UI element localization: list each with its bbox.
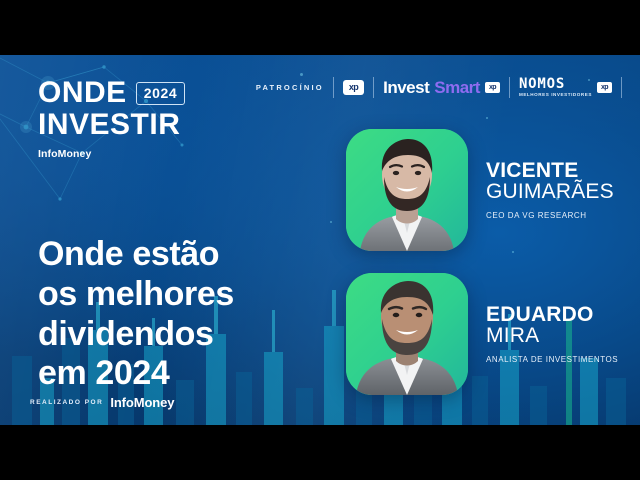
infomoney-brand-logo: InfoMoney	[38, 148, 185, 160]
speaker-photo-vicente	[346, 129, 468, 251]
nomos-xp-mark: xp	[597, 82, 612, 93]
speaker-last-name: MIRA	[486, 325, 618, 348]
sponsor-divider	[621, 77, 622, 98]
investsmart-smart-text: Smart	[434, 78, 480, 98]
realized-by-label: REALIZADO POR	[30, 399, 103, 406]
page-title: Onde estão os melhores dividendos em 202…	[38, 235, 234, 394]
sponsor-logo-nomos: NOMOS Melhores Investidores xp	[519, 77, 612, 98]
realized-by-brand: InfoMoney	[110, 395, 174, 410]
sponsor-logo-investsmart: InvestSmart xp	[383, 78, 500, 98]
speaker-last-name: GUIMARÃES	[486, 181, 614, 204]
sponsor-logo-xp: xp	[343, 80, 364, 95]
nomos-title: NOMOS	[519, 77, 565, 91]
sponsor-divider	[333, 77, 334, 98]
speaker-first-name: EDUARDO	[486, 304, 618, 325]
investsmart-invest-text: Invest	[383, 78, 429, 98]
speaker-first-name: VICENTE	[486, 160, 614, 181]
speaker-card-vicente: VICENTE GUIMARÃES CEO DA VG RESEARCH	[346, 129, 614, 251]
event-logo: ONDE 2024 INVESTIR InfoMoney	[38, 79, 185, 160]
headline-line-3: dividendos	[38, 315, 234, 355]
event-year-badge: 2024	[136, 82, 186, 105]
speaker-photo-eduardo	[346, 273, 468, 395]
portrait-illustration	[346, 129, 468, 251]
speaker-card-eduardo: EDUARDO MIRA ANALISTA DE INVESTIMENTOS	[346, 273, 618, 395]
slide-stage: ONDE 2024 INVESTIR InfoMoney Onde estão …	[0, 55, 640, 425]
xp-logo-mark: xp	[349, 83, 358, 92]
xp-logo-mark: xp	[601, 84, 608, 91]
headline-line-2: os melhores	[38, 275, 234, 315]
event-logo-line1: ONDE	[38, 79, 127, 108]
sponsor-divider	[509, 77, 510, 98]
event-logo-line2: INVESTIR	[38, 111, 185, 140]
investsmart-xp-mark: xp	[485, 82, 500, 93]
speck	[330, 221, 332, 223]
xp-logo-mark: xp	[489, 84, 496, 91]
realized-by-credit: REALIZADO POR InfoMoney	[30, 395, 174, 410]
video-frame: ONDE 2024 INVESTIR InfoMoney Onde estão …	[0, 0, 640, 480]
sponsor-divider	[373, 77, 374, 98]
sponsor-label: PATROCÍNIO	[256, 83, 324, 92]
speaker-role: ANALISTA DE INVESTIMENTOS	[486, 355, 618, 364]
sponsor-strip: PATROCÍNIO xp InvestSmart xp NOMOS Melho…	[256, 77, 622, 98]
headline-line-4: em 2024	[38, 354, 234, 394]
speck	[512, 251, 514, 253]
portrait-illustration	[346, 273, 468, 395]
letterbox-top	[0, 0, 640, 55]
speck	[300, 73, 303, 76]
letterbox-bottom	[0, 425, 640, 480]
speck	[486, 117, 488, 119]
nomos-tagline: Melhores Investidores	[519, 93, 592, 98]
speaker-role: CEO DA VG RESEARCH	[486, 211, 614, 220]
headline-line-1: Onde estão	[38, 235, 234, 275]
